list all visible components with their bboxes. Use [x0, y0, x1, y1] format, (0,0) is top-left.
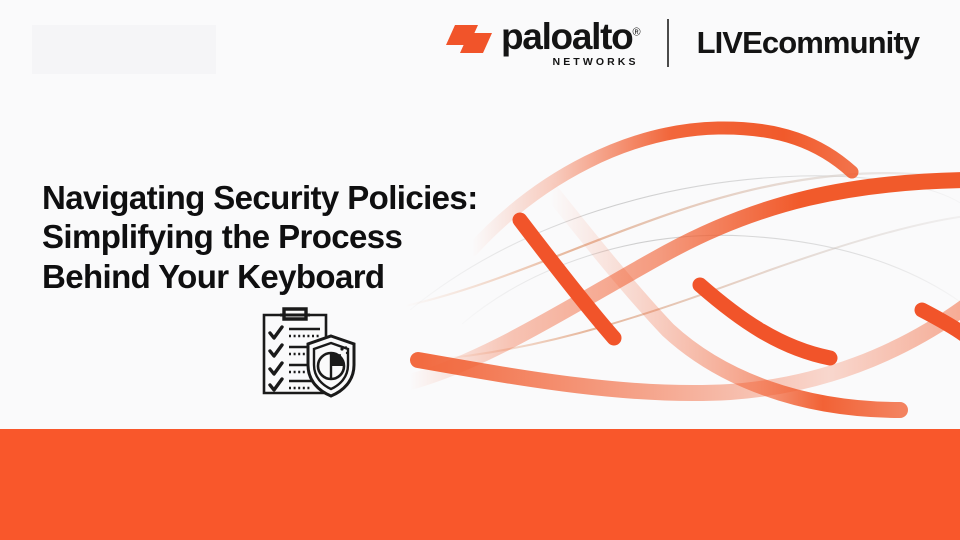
- brand-header: paloalto® NETWORKS LIVEcommunity: [446, 14, 919, 72]
- paloalto-networks-chevrons-icon: [446, 25, 492, 61]
- palo-alto-wordmark: paloalto® NETWORKS: [501, 19, 641, 68]
- footer-band: [0, 429, 960, 540]
- placeholder-block: [32, 25, 216, 74]
- brand-divider: [667, 19, 669, 67]
- palo-alto-networks-logo[interactable]: paloalto® NETWORKS: [446, 19, 641, 68]
- company-name: paloalto®: [501, 19, 641, 54]
- page-title: Navigating Security Policies: Simplifyin…: [42, 178, 582, 296]
- product-name: LIVEcommunity: [697, 25, 920, 61]
- registered-trademark-icon: ®: [632, 26, 640, 38]
- company-subtitle: NETWORKS: [553, 57, 639, 68]
- company-name-text: paloalto: [501, 16, 632, 57]
- slide-canvas: paloalto® NETWORKS LIVEcommunity Navigat…: [0, 0, 960, 540]
- clipboard-checklist-shield-icon: [256, 303, 360, 399]
